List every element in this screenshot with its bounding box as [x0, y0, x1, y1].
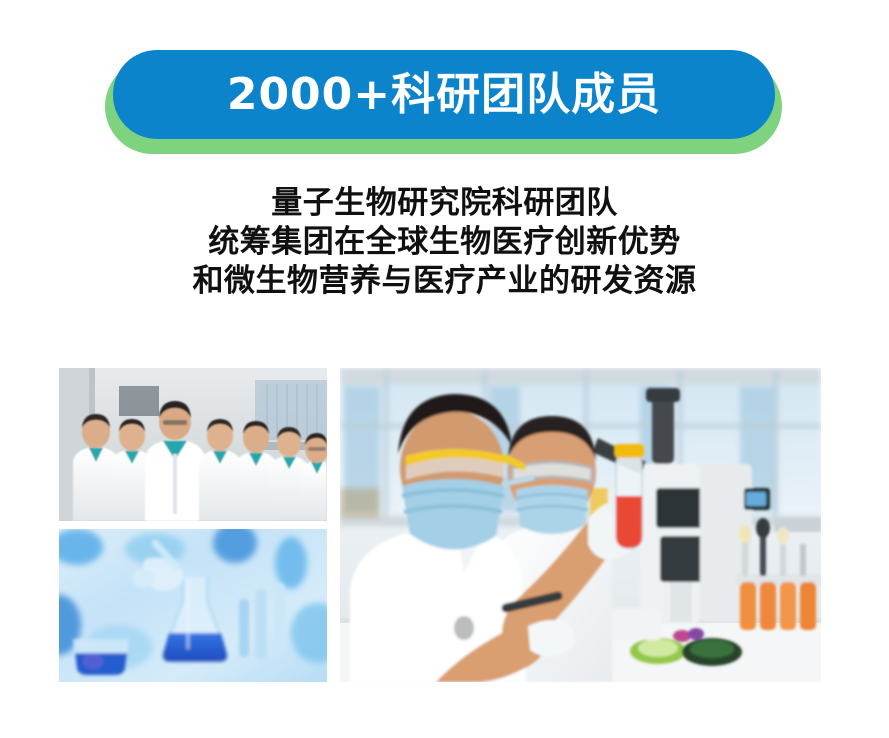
banner-title: 2000+科研团队成员: [227, 73, 661, 117]
headline-banner: 2000+科研团队成员: [0, 50, 889, 154]
photo-gallery: [59, 368, 821, 682]
scientists-examining-test-tube: [340, 368, 821, 682]
banner-blue-plate: 2000+科研团队成员: [113, 50, 775, 139]
blue-laboratory-flask: [59, 529, 327, 682]
description-line-3: 和微生物营养与医疗产业的研发资源: [0, 262, 889, 301]
gallery-left-column: [59, 368, 327, 682]
description-line-2: 统筹集团在全球生物医疗创新优势: [0, 223, 889, 262]
description-line-1: 量子生物研究院科研团队: [0, 184, 889, 223]
description-block: 量子生物研究院科研团队 统筹集团在全球生物医疗创新优势 和微生物营养与医疗产业的…: [0, 184, 889, 301]
research-team-group-photo: [59, 368, 327, 521]
